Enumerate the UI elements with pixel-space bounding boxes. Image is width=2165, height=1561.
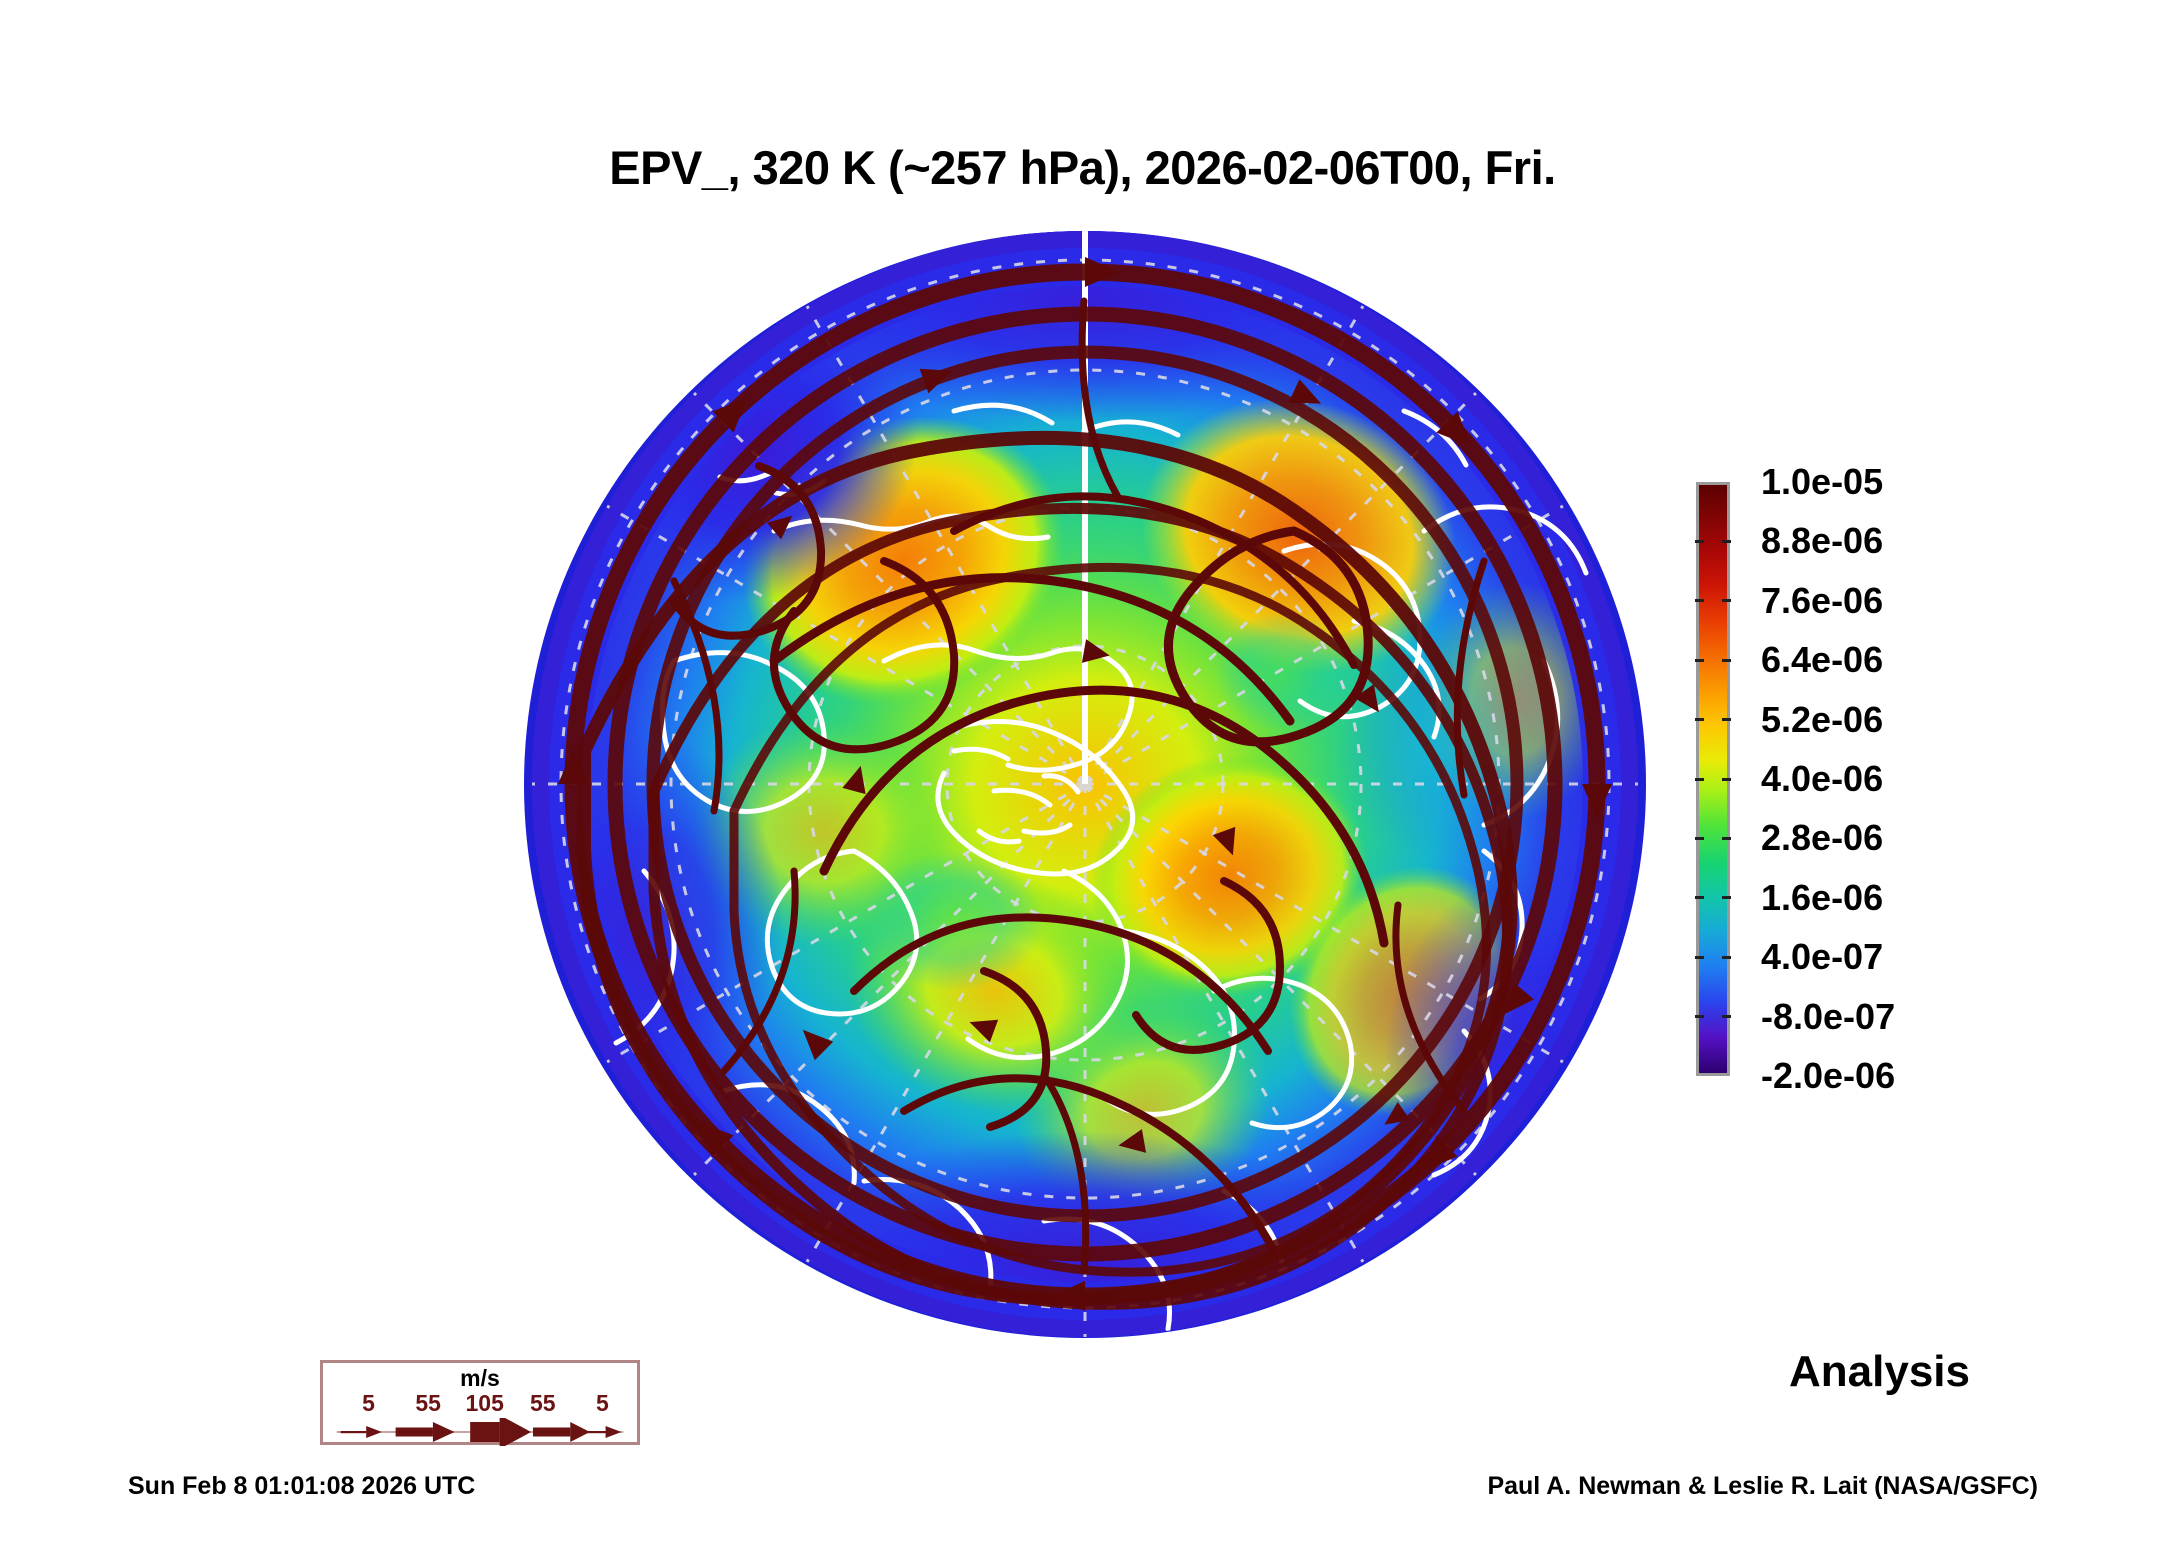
colorbar-tick <box>1695 718 1704 721</box>
wind-arrow-svg <box>323 1418 637 1446</box>
colorbar-tick-label: 1.6e-06 <box>1761 877 1883 919</box>
globe-disc <box>524 231 1646 1338</box>
colorbar-tick <box>1695 540 1704 543</box>
wind-speed-value: 5 <box>362 1390 375 1417</box>
wind-speed-value: 105 <box>466 1390 504 1417</box>
colorbar-tick-label: 2.8e-06 <box>1761 817 1883 859</box>
colorbar-tick-label: 8.8e-06 <box>1761 520 1883 562</box>
colorbar-tick <box>1722 896 1731 899</box>
colorbar-tick <box>1695 599 1704 602</box>
colorbar[interactable] <box>1696 482 1730 1076</box>
colorbar-tick-label: -8.0e-07 <box>1761 996 1895 1038</box>
map-canvas <box>524 231 1646 1338</box>
colorbar-tick <box>1722 718 1731 721</box>
colorbar-tick <box>1695 837 1704 840</box>
colorbar-tick-label: 6.4e-06 <box>1761 639 1883 681</box>
colorbar-tick <box>1722 956 1731 959</box>
analysis-label: Analysis <box>1789 1347 1970 1397</box>
colorbar-tick <box>1695 956 1704 959</box>
wind-speed-value: 5 <box>596 1390 609 1417</box>
colorbar-tick <box>1695 1015 1704 1018</box>
wind-speed-value: 55 <box>530 1390 556 1417</box>
colorbar-tick-label: 5.2e-06 <box>1761 699 1883 741</box>
polar-map[interactable] <box>524 231 1646 1338</box>
colorbar-tick <box>1722 599 1731 602</box>
wind-arrow-scale <box>323 1418 637 1446</box>
attribution-credit: Paul A. Newman & Leslie R. Lait (NASA/GS… <box>1487 1472 2038 1501</box>
colorbar-tick <box>1722 540 1731 543</box>
colorbar-labels: 1.0e-058.8e-067.6e-066.4e-065.2e-064.0e-… <box>1761 482 2061 1076</box>
colorbar-tick-label: 1.0e-05 <box>1761 461 1883 503</box>
plot-root: EPV_, 320 K (~257 hPa), 2026-02-06T00, F… <box>0 0 2165 1561</box>
colorbar-tick <box>1695 778 1704 781</box>
wind-units-label: m/s <box>323 1365 637 1392</box>
colorbar-tick-label: 4.0e-06 <box>1761 758 1883 800</box>
wind-speed-value: 55 <box>415 1390 441 1417</box>
generation-timestamp: Sun Feb 8 01:01:08 2026 UTC <box>128 1472 475 1501</box>
wind-speed-legend: m/s 555105555 <box>320 1360 640 1445</box>
colorbar-tick-label: 4.0e-07 <box>1761 936 1883 978</box>
colorbar-tick-label: -2.0e-06 <box>1761 1055 1895 1097</box>
colorbar-tick <box>1695 896 1704 899</box>
colorbar-tick <box>1722 837 1731 840</box>
colorbar-tick <box>1722 778 1731 781</box>
colorbar-tick-label: 7.6e-06 <box>1761 580 1883 622</box>
colorbar-tick <box>1722 1015 1731 1018</box>
colorbar-tick <box>1722 659 1731 662</box>
wind-speed-values: 555105555 <box>323 1390 637 1416</box>
page-title: EPV_, 320 K (~257 hPa), 2026-02-06T00, F… <box>0 140 2165 195</box>
colorbar-tick <box>1695 659 1704 662</box>
